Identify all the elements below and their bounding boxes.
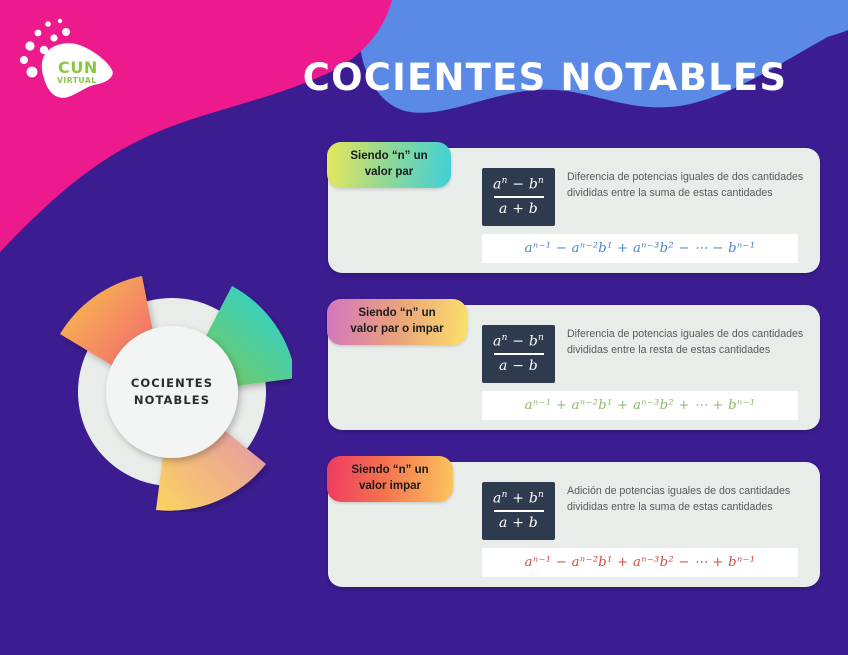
card-1-description: Diferencia de potencias iguales de dos c… xyxy=(567,170,812,201)
card-2-description: Diferencia de potencias iguales de dos c… xyxy=(567,327,812,358)
card-1-fraction-box: an − bn a + b xyxy=(482,168,555,226)
card-1-fraction-denominator: a + b xyxy=(499,201,538,219)
card-2-num-exp-a: n xyxy=(502,333,508,343)
card-3-num-exp-b: n xyxy=(538,490,544,500)
card-3-fraction-box: an + bn a + b xyxy=(482,482,555,540)
logo-text-cun: CUN xyxy=(58,58,98,77)
card-3-num-exp-a: n xyxy=(502,490,508,500)
card-1-fraction-bar xyxy=(494,196,544,197)
card-2-condition-pill: Siendo “n” un valor par o impar xyxy=(327,299,467,345)
card-2-num-base-b: b xyxy=(529,333,538,349)
card-2-fraction-bar xyxy=(494,353,544,354)
card-3-num-operator: + xyxy=(512,490,524,506)
card-1-num-exp-a: n xyxy=(502,176,508,186)
card-2-num-base-a: a xyxy=(493,333,502,349)
card-3-result-formula: aⁿ⁻¹ − aⁿ⁻²b¹ + aⁿ⁻³b² − ⋯ + bⁿ⁻¹ xyxy=(482,548,798,577)
card-2-fraction-denominator: a − b xyxy=(499,358,538,376)
card-3-fraction-denominator: a + b xyxy=(499,515,538,533)
card-3-description: Adición de potencias iguales de dos cant… xyxy=(567,484,812,515)
logo-svg: CUN VIRTUAL xyxy=(10,12,122,104)
card-3-num-base-a: a xyxy=(493,490,502,506)
formula-card-even-or-odd[interactable]: Siendo “n” un valor par o impar an − bn … xyxy=(328,305,820,430)
card-1-num-base-a: a xyxy=(493,176,502,192)
card-2-result-formula: aⁿ⁻¹ + aⁿ⁻²b¹ + aⁿ⁻³b² + ⋯ + bⁿ⁻¹ xyxy=(482,391,798,420)
card-3-fraction-numerator: an + bn xyxy=(493,490,544,508)
card-2-num-operator: − xyxy=(512,333,524,349)
formula-card-odd[interactable]: Siendo “n” un valor impar an + bn a + b … xyxy=(328,462,820,587)
cun-virtual-logo[interactable]: CUN VIRTUAL xyxy=(10,12,122,104)
card-3-num-base-b: b xyxy=(529,490,538,506)
card-2-fraction-box: an − bn a − b xyxy=(482,325,555,383)
card-1-fraction-numerator: an − bn xyxy=(493,176,544,194)
card-1-result-formula: aⁿ⁻¹ − aⁿ⁻²b¹ + aⁿ⁻³b² − ⋯ − bⁿ⁻¹ xyxy=(482,234,798,263)
slide-canvas: CUN VIRTUAL COCIENTES NOTABLES xyxy=(0,0,848,655)
donut-center-circle xyxy=(106,326,238,458)
donut-diagram xyxy=(52,272,292,512)
card-1-num-operator: − xyxy=(512,176,524,192)
card-2-num-exp-b: n xyxy=(538,333,544,343)
card-1-num-exp-b: n xyxy=(538,176,544,186)
card-1-condition-pill: Siendo “n” un valor par xyxy=(327,142,451,188)
card-2-fraction-numerator: an − bn xyxy=(493,333,544,351)
card-3-condition-pill: Siendo “n” un valor impar xyxy=(327,456,453,502)
page-title: COCIENTES NOTABLES xyxy=(280,56,810,99)
logo-text-virtual: VIRTUAL xyxy=(57,76,97,85)
card-1-num-base-b: b xyxy=(529,176,538,192)
card-3-fraction-bar xyxy=(494,510,544,511)
formula-card-even[interactable]: Siendo “n” un valor par an − bn a + b Di… xyxy=(328,148,820,273)
